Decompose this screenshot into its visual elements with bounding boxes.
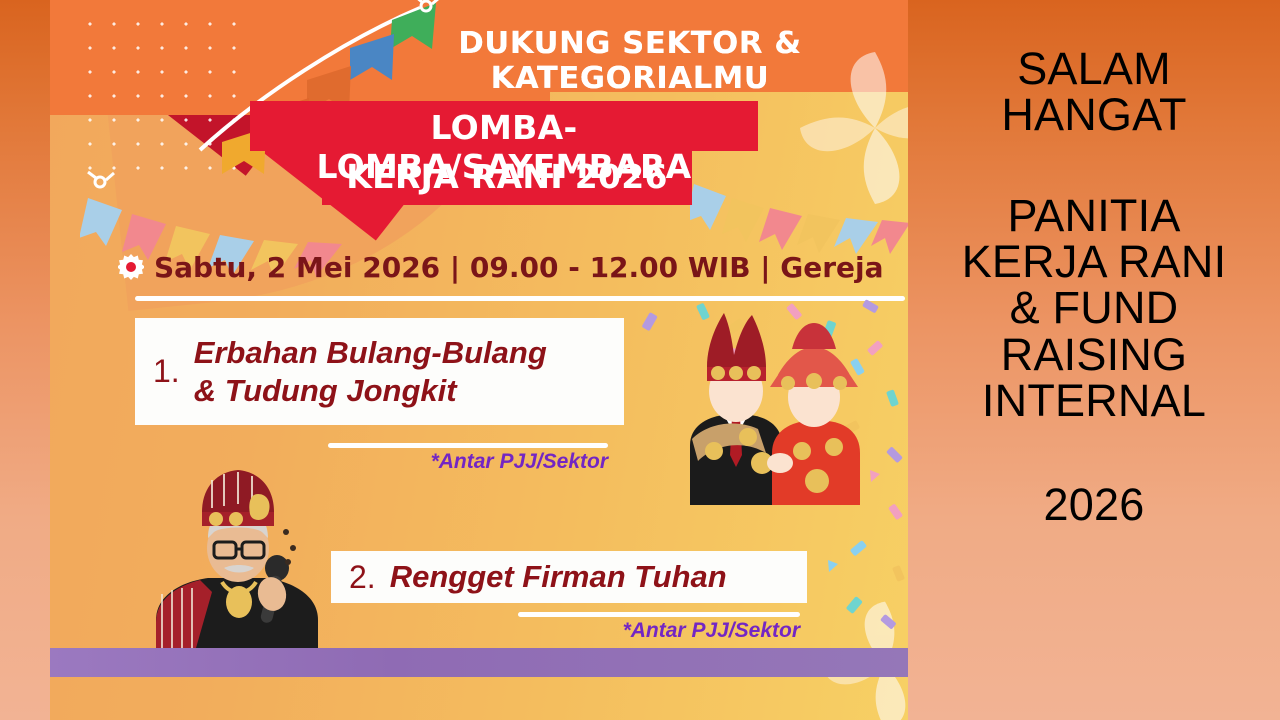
flower-burst-icon xyxy=(118,254,144,280)
poster-canvas: DUKUNG SEKTOR & KATEGORIALMU LOMBA-LOMBA… xyxy=(50,0,908,720)
contest-item-1-note: *Antar PJJ/Sektor xyxy=(338,450,608,474)
organizer-line1: PANITIA xyxy=(962,193,1227,239)
headline-text-line2: KERJA RANI 2026 xyxy=(322,157,692,196)
organizer-block: PANITIA KERJA RANI & FUND RAISING INTERN… xyxy=(962,193,1227,425)
right-caption-panel: SALAM HANGAT PANITIA KERJA RANI & FUND R… xyxy=(908,0,1280,720)
contest-item-2-note: *Antar PJJ/Sektor xyxy=(528,619,800,643)
contest-item-1-title: Erbahan Bulang-Bulang & Tudung Jongkit xyxy=(194,334,547,410)
divider-line-item2 xyxy=(518,612,800,617)
contest-item-1-title-line2: & Tudung Jongkit xyxy=(194,373,457,408)
divider-line-top xyxy=(135,296,905,301)
greeting-block: SALAM HANGAT xyxy=(1001,46,1186,139)
event-details-text: Sabtu, 2 Mei 2026 | 09.00 - 12.00 WIB | … xyxy=(154,251,884,284)
divider-line-item1 xyxy=(328,443,608,448)
elder-singer-with-microphone-illustration xyxy=(138,470,348,655)
purple-footer-bar xyxy=(50,648,908,677)
organizer-line3: & FUND xyxy=(962,285,1227,331)
contest-item-1-number: 1. xyxy=(153,353,180,390)
poster-header-title: DUKUNG SEKTOR & KATEGORIALMU xyxy=(344,26,908,96)
event-details-line: Sabtu, 2 Mei 2026 | 09.00 - 12.00 WIB | … xyxy=(118,246,908,288)
contest-item-2-title: Rengget Firman Tuhan xyxy=(390,558,727,596)
organizer-line2: KERJA RANI xyxy=(962,239,1227,285)
greeting-line1: SALAM xyxy=(1001,46,1186,92)
contest-item-1: 1. Erbahan Bulang-Bulang & Tudung Jongki… xyxy=(135,318,624,425)
organizer-line4: RAISING xyxy=(962,332,1227,378)
contest-item-2-number: 2. xyxy=(349,559,376,596)
karo-wedding-couple-illustration xyxy=(662,305,867,505)
greeting-line2: HANGAT xyxy=(1001,92,1186,138)
year-label: 2026 xyxy=(1044,482,1145,528)
contest-item-1-title-line1: Erbahan Bulang-Bulang xyxy=(194,335,547,370)
organizer-line5: INTERNAL xyxy=(962,378,1227,424)
contest-item-2: 2. Rengget Firman Tuhan xyxy=(331,551,807,603)
